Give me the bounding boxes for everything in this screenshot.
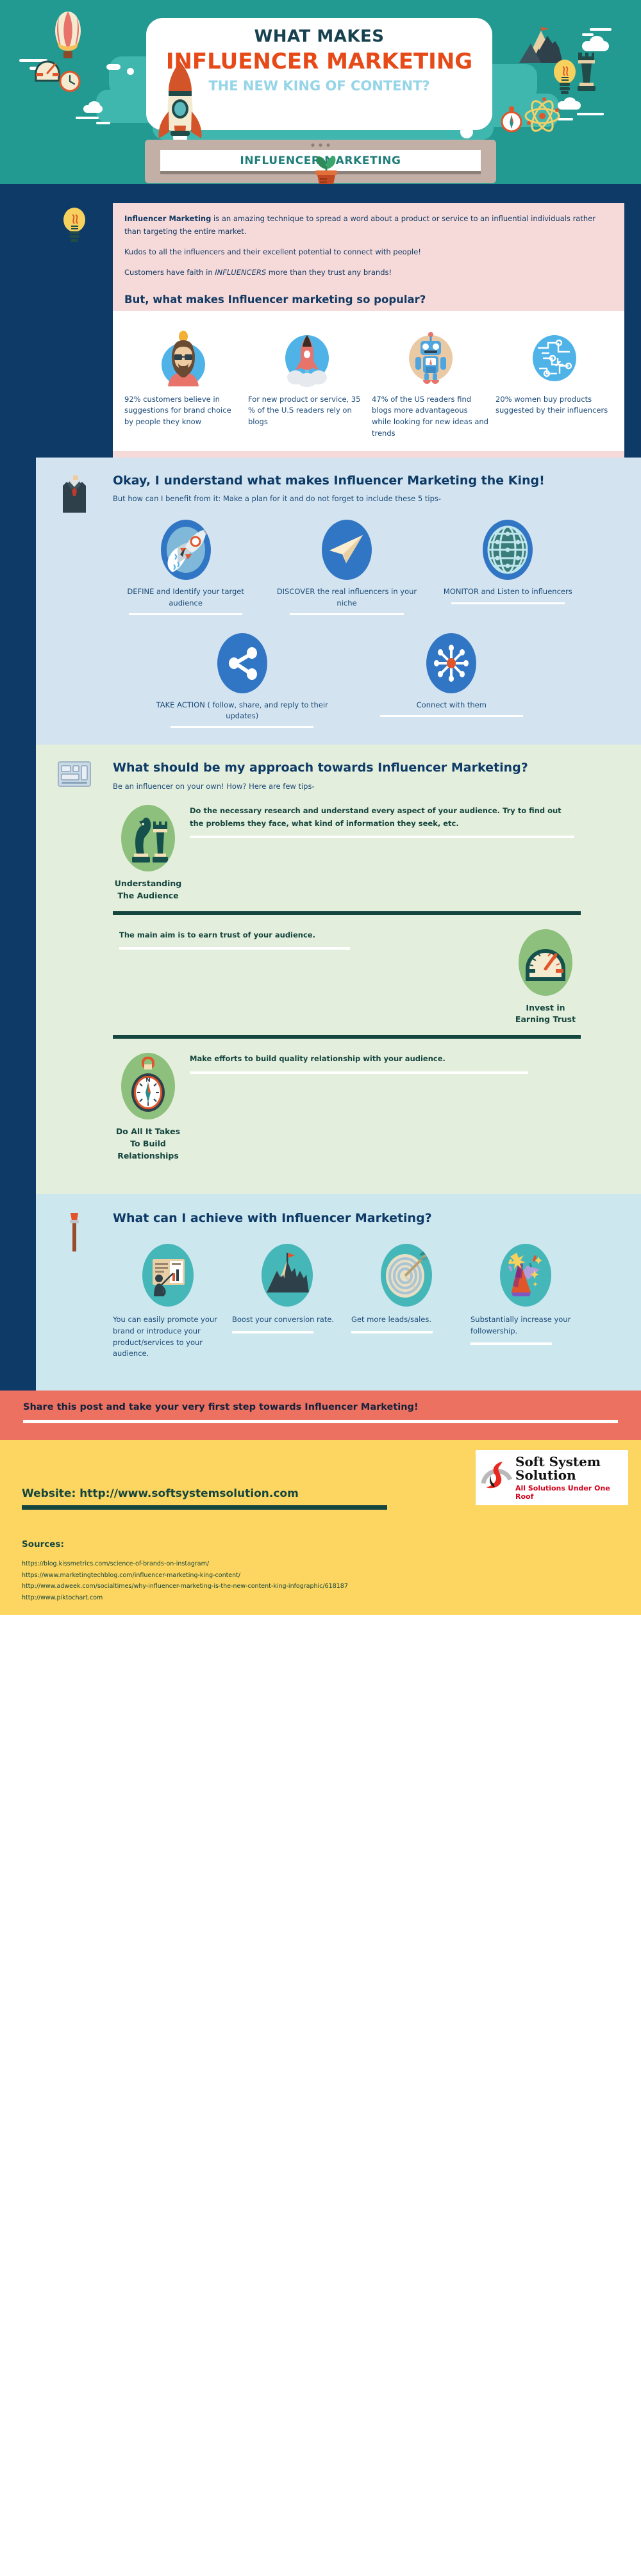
achieve-caption: Get more leads/sales. — [351, 1314, 462, 1326]
circuit-brain-icon — [530, 329, 579, 388]
logo-line-1: Soft System — [515, 1455, 628, 1469]
cloud-decoration — [564, 97, 576, 106]
achieve-item: Get more leads/sales. — [351, 1244, 462, 1360]
sources-list: https://blog.kissmetrics.com/science-of-… — [22, 1558, 619, 1603]
king-suit-badge — [36, 458, 113, 745]
achieve-caption: Substantially increase your followership… — [470, 1314, 581, 1337]
logo-text: Soft System Solution All Solutions Under… — [514, 1455, 628, 1501]
approach-item-text: Make efforts to build quality relationsh… — [190, 1053, 574, 1066]
approach-text-underline — [190, 1071, 528, 1074]
clock-icon — [59, 70, 79, 91]
tip-underline — [129, 613, 242, 615]
achieve-caption: Boost your conversion rate. — [232, 1314, 342, 1326]
achieve-caption: You can easily promote your brand or int… — [113, 1314, 223, 1360]
stats-grid: 92% customers believe in suggestions for… — [124, 318, 613, 440]
achieve-grid: You can easily promote your brand or int… — [113, 1244, 581, 1360]
hipster-avatar-icon — [159, 329, 208, 388]
right-gutter — [600, 458, 641, 745]
stat-caption: 92% customers believe in suggestions for… — [124, 394, 242, 428]
paper-plane-icon — [322, 520, 372, 580]
footer: Soft System Solution All Solutions Under… — [0, 1440, 641, 1615]
left-rail — [0, 745, 36, 1194]
mountain-icon — [519, 27, 570, 60]
achieve-item: Substantially increase your followership… — [470, 1244, 581, 1360]
approach-item-name: Do All It Takes To Build Relationships — [113, 1126, 183, 1162]
company-logo: Soft System Solution All Solutions Under… — [476, 1450, 628, 1505]
source-link[interactable]: http://www.adweek.com/socialtimes/why-in… — [22, 1581, 619, 1592]
achieve-item: You can easily promote your brand or int… — [113, 1244, 223, 1360]
potted-plant-icon — [312, 153, 338, 183]
compass-icon — [501, 106, 520, 131]
stat-item: 92% customers believe in suggestions for… — [124, 329, 242, 440]
right-gutter — [600, 1194, 641, 1391]
control-panel-icon — [58, 761, 91, 787]
intro-paragraph-3: Customers have faith in INFLUENCERS more… — [124, 266, 613, 279]
approach-item-text: Do the necessary research and understand… — [190, 805, 574, 830]
hero-line-1: WHAT MAKES — [146, 27, 492, 46]
achieve-underline — [470, 1342, 552, 1345]
approach-item-text: The main aim is to earn trust of your au… — [119, 929, 504, 942]
compass-icon: N I — [121, 1053, 175, 1119]
tip-item: DISCOVER the real influencers in your ni… — [274, 520, 419, 615]
king-subheading: But how can I benefit from it: Make a pl… — [113, 494, 581, 503]
atom-icon — [523, 97, 559, 132]
intro-paragraph-1: Influencer Marketing is an amazing techn… — [124, 212, 613, 238]
tip-underline — [290, 613, 403, 615]
rocket-globe-icon — [161, 520, 211, 580]
section-king: Okay, I understand what makes Influencer… — [0, 458, 641, 745]
approach-separator — [113, 1035, 581, 1039]
cloud-decoration — [76, 117, 99, 119]
lightbulb-icon — [553, 59, 576, 92]
party-hat-icon — [500, 1244, 551, 1307]
intro-p3-b: more than they trust any brands! — [266, 268, 392, 277]
sources-block: Sources: https://blog.kissmetrics.com/sc… — [22, 1539, 619, 1603]
intro-bulb-badge — [36, 184, 113, 458]
approach-item-text-block: The main aim is to earn trust of your au… — [113, 929, 510, 950]
cloud-decoration — [577, 113, 604, 115]
tip-label: DEFINE and Identify your target audience — [113, 586, 258, 609]
achieve-underline — [232, 1331, 313, 1333]
share-nodes-icon — [217, 633, 267, 693]
approach-text-underline — [190, 836, 574, 838]
rocket-launch-icon — [283, 329, 331, 388]
approach-item: Understanding The Audience Do the necess… — [113, 805, 581, 902]
approach-item-name: Invest in Earning Trust — [510, 1002, 581, 1027]
intro-paragraphs: Influencer Marketing is an amazing techn… — [113, 203, 624, 290]
speedometer-icon — [33, 55, 60, 82]
hero-header: WHAT MAKES INFLUENCER MARKETING THE NEW … — [0, 0, 641, 184]
stat-caption: 20% women buy products suggested by thei… — [495, 394, 613, 417]
cloud-decoration — [106, 64, 121, 70]
logo-mark-icon — [481, 1458, 514, 1498]
tip-underline — [171, 726, 314, 728]
approach-text-underline — [119, 947, 350, 950]
tip-item: MONITOR and Listen to influencers — [435, 520, 581, 615]
tip-underline — [451, 602, 565, 604]
tip-underline — [380, 715, 524, 717]
cta-banner: Share this post and take your very first… — [0, 1391, 641, 1440]
speedometer-icon — [519, 929, 572, 996]
hub-connect-icon — [426, 633, 476, 693]
approach-subheading: Be an influencer on your own! How? Here … — [113, 782, 581, 791]
cta-text: Share this post and take your very first… — [23, 1402, 618, 1412]
achieve-badge — [36, 1194, 113, 1391]
approach-badge — [36, 745, 113, 1194]
stats-panel: 92% customers believe in suggestions for… — [113, 311, 624, 451]
torch-icon — [66, 1213, 83, 1253]
approach-item-text-block: Do the necessary research and understand… — [183, 805, 581, 838]
business-suit-icon — [60, 475, 88, 515]
stat-item: 20% women buy products suggested by thei… — [495, 329, 613, 440]
tip-label: DISCOVER the real influencers in your ni… — [274, 586, 419, 609]
pink-divider — [113, 451, 624, 458]
sources-heading: Sources: — [22, 1539, 619, 1549]
intro-p3-emphasis: INFLUENCERS — [215, 268, 266, 277]
cloud-decoration — [582, 33, 594, 36]
king-tips-row-1: DEFINE and Identify your target audience… — [113, 520, 581, 615]
lightbulb-icon — [62, 207, 87, 244]
achieve-item: Boost your conversion rate. — [232, 1244, 342, 1360]
robot-icon — [406, 329, 455, 388]
mountain-flag-icon — [262, 1244, 313, 1307]
source-link[interactable]: http://www.piktochart.com — [22, 1592, 619, 1604]
section-intro: Influencer Marketing is an amazing techn… — [0, 184, 641, 458]
tip-label: TAKE ACTION ( follow, share, and reply t… — [150, 700, 334, 722]
hot-air-balloon-icon — [54, 12, 82, 51]
stat-caption: 47% of the US readers find blogs more ad… — [372, 394, 489, 440]
stat-item: For new product or service, 35 % of the … — [248, 329, 365, 440]
intro-paragraph-2: Kudos to all the influencers and their e… — [124, 245, 613, 258]
popular-heading: But, what makes Influencer marketing so … — [124, 290, 613, 311]
intro-p1-bold: Influencer Marketing — [124, 214, 211, 223]
left-rail — [0, 1194, 36, 1391]
tip-item: TAKE ACTION ( follow, share, and reply t… — [150, 633, 334, 729]
hero-line-3: THE NEW KING OF CONTENT? — [146, 78, 492, 94]
section-approach: What should be my approach towards Influ… — [0, 745, 641, 1194]
website-url[interactable]: Website: http://www.softsystemsolution.c… — [22, 1487, 299, 1500]
tip-item: Connect with them — [360, 633, 544, 729]
approach-icon-block: Invest in Earning Trust — [510, 929, 581, 1027]
king-heading: Okay, I understand what makes Influencer… — [113, 473, 581, 490]
king-tips-row-2: TAKE ACTION ( follow, share, and reply t… — [113, 633, 581, 729]
cta-underline — [23, 1420, 618, 1423]
cloud-decoration — [127, 68, 134, 75]
approach-separator — [113, 911, 581, 915]
hero-line-2: INFLUENCER MARKETING — [146, 49, 492, 74]
approach-item: Invest in Earning Trust The main aim is … — [113, 929, 581, 1027]
right-gutter — [600, 745, 641, 1194]
website-underline — [22, 1505, 387, 1510]
left-rail — [0, 458, 36, 745]
chess-pieces-icon — [121, 805, 175, 871]
stat-caption: For new product or service, 35 % of the … — [248, 394, 365, 428]
source-link[interactable]: https://blog.kissmetrics.com/science-of-… — [22, 1558, 619, 1570]
presentation-chart-icon — [142, 1244, 194, 1307]
approach-item-text-block: Make efforts to build quality relationsh… — [183, 1053, 581, 1074]
approach-item-name: Understanding The Audience — [113, 878, 183, 902]
stat-item: 47% of the US readers find blogs more ad… — [372, 329, 489, 440]
achieve-underline — [351, 1331, 433, 1333]
approach-heading: What should be my approach towards Influ… — [113, 760, 581, 777]
section-achieve: What can I achieve with Influencer Marke… — [0, 1194, 641, 1391]
logo-tagline: All Solutions Under One Roof — [515, 1484, 628, 1501]
chess-rook-icon — [576, 50, 596, 90]
cloud-decoration — [590, 36, 604, 47]
target-arrow-icon — [381, 1244, 432, 1307]
cloud-decoration — [590, 28, 612, 31]
intro-p3-a: Customers have faith in — [124, 268, 215, 277]
globe-network-icon — [483, 520, 533, 580]
tip-label: Connect with them — [360, 700, 544, 711]
hero-title-group: WHAT MAKES INFLUENCER MARKETING THE NEW … — [146, 27, 492, 94]
logo-line-2: Solution — [515, 1469, 628, 1482]
tip-label: MONITOR and Listen to influencers — [435, 586, 581, 597]
cloud-decoration — [88, 101, 100, 110]
monitor-dots — [312, 144, 330, 147]
cloud-decoration — [96, 122, 110, 124]
infographic-page: WHAT MAKES INFLUENCER MARKETING THE NEW … — [0, 0, 641, 1615]
source-link[interactable]: https://www.marketingtechblog.com/influe… — [22, 1570, 619, 1581]
achieve-heading: What can I achieve with Influencer Marke… — [113, 1210, 581, 1227]
tip-item: DEFINE and Identify your target audience — [113, 520, 258, 615]
approach-item: N I Do All It Takes — [113, 1053, 581, 1162]
approach-icon-block: Understanding The Audience — [113, 805, 183, 902]
left-rail — [0, 184, 36, 458]
popular-heading-wrap: But, what makes Influencer marketing so … — [113, 290, 624, 311]
approach-icon-block: N I Do All It Takes — [113, 1053, 183, 1162]
